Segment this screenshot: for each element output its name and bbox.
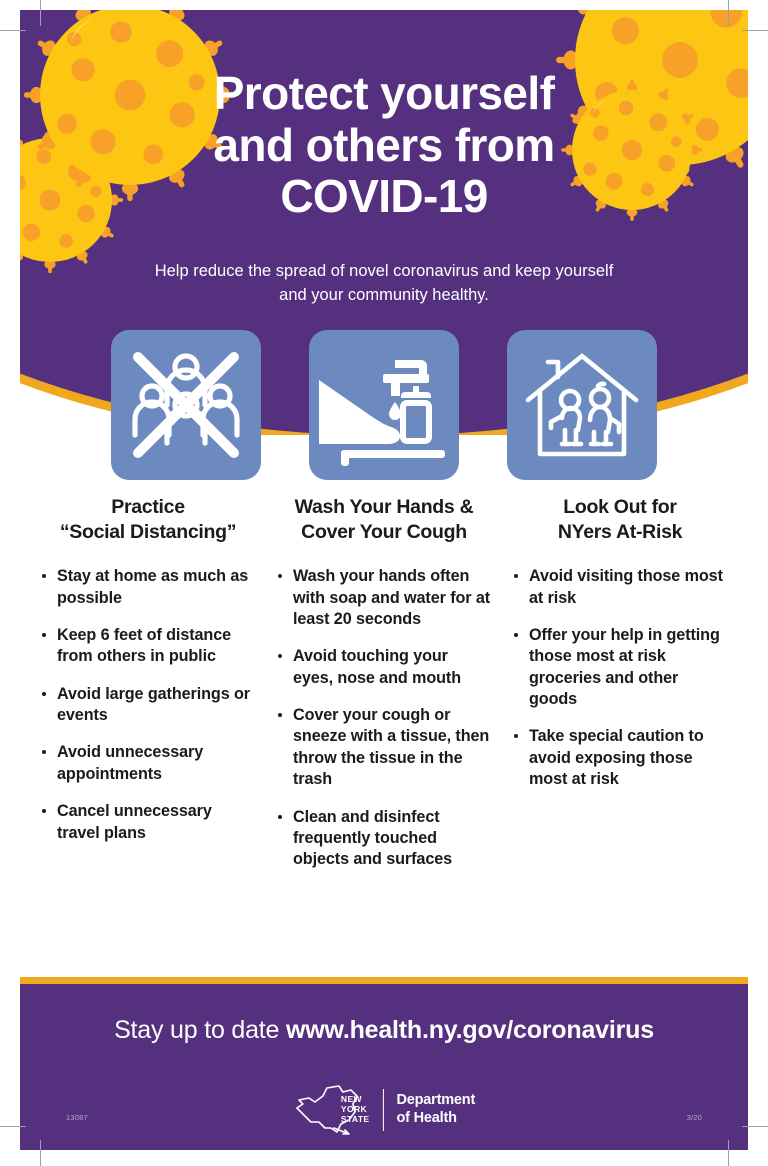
footer-prefix: Stay up to date [114,1016,279,1044]
column-title: Look Out for NYers At-Risk [512,495,728,544]
column-list: Stay at home as much as possible Keep 6 … [40,566,256,844]
logo-state-words: NEW YORK STATE [341,1095,370,1125]
no-crowd-icon [111,330,261,480]
new-york-state-outline-icon: NEW YORK STATE [293,1082,370,1138]
crop-mark-bottom-left-h [0,1126,26,1127]
column-wash-hands: Wash Your Hands & Cover Your Cough Wash … [276,495,492,887]
column-title: Wash Your Hands & Cover Your Cough [276,495,492,544]
list-item: Stay at home as much as possible [40,566,256,609]
column-social-distancing: Practice “Social Distancing” Stay at hom… [40,495,256,887]
logo-divider [383,1089,384,1131]
list-item: Avoid large gatherings or events [40,684,256,727]
advice-columns: Practice “Social Distancing” Stay at hom… [20,495,748,887]
column-title: Practice “Social Distancing” [40,495,256,544]
list-item: Clean and disinfect frequently touched o… [276,807,492,871]
list-item: Offer your help in getting those most at… [512,625,728,711]
column-at-risk: Look Out for NYers At-Risk Avoid visitin… [512,495,728,887]
list-item: Cover your cough or sneeze with a tissue… [276,705,492,791]
ny-doh-logo: NEW YORK STATE Department of Health [293,1082,475,1138]
elderly-at-home-icon [507,330,657,480]
crop-mark-bottom-right-h [742,1126,768,1127]
crop-mark-top-right-v [728,0,729,26]
list-item: Keep 6 feet of distance from others in p… [40,625,256,668]
logo-department-text: Department of Health [397,1092,476,1127]
page-subtitle: Help reduce the spread of novel coronavi… [144,259,624,308]
page-title: Protect yourself and others from COVID-1… [124,68,644,223]
poster-footer: Stay up to date www.health.ny.gov/corona… [20,977,748,1150]
list-item: Wash your hands often with soap and wate… [276,566,492,630]
publication-code: 13087 [66,1113,88,1122]
crop-mark-top-left-h [0,30,26,31]
poster: Protect yourself and others from COVID-1… [20,10,748,1150]
column-list: Avoid visiting those most at risk Offer … [512,566,728,790]
health-website-link[interactable]: www.health.ny.gov/coronavirus [286,1016,654,1044]
list-item: Avoid unnecessary appointments [40,742,256,785]
crop-mark-top-left-v [40,0,41,26]
crop-mark-bottom-left-v [40,1140,41,1166]
list-item: Avoid touching your eyes, nose and mouth [276,646,492,689]
list-item: Cancel unnecessary travel plans [40,801,256,844]
list-item: Take special caution to avoid exposing t… [512,726,728,790]
list-item: Avoid visiting those most at risk [512,566,728,609]
crop-mark-top-right-h [742,30,768,31]
icon-row [20,330,748,480]
footer-url-line: Stay up to date www.health.ny.gov/corona… [20,1016,748,1045]
column-list: Wash your hands often with soap and wate… [276,566,492,871]
handwashing-icon [309,330,459,480]
crop-mark-bottom-right-v [728,1140,729,1166]
revision-date-code: 3/20 [687,1113,702,1122]
